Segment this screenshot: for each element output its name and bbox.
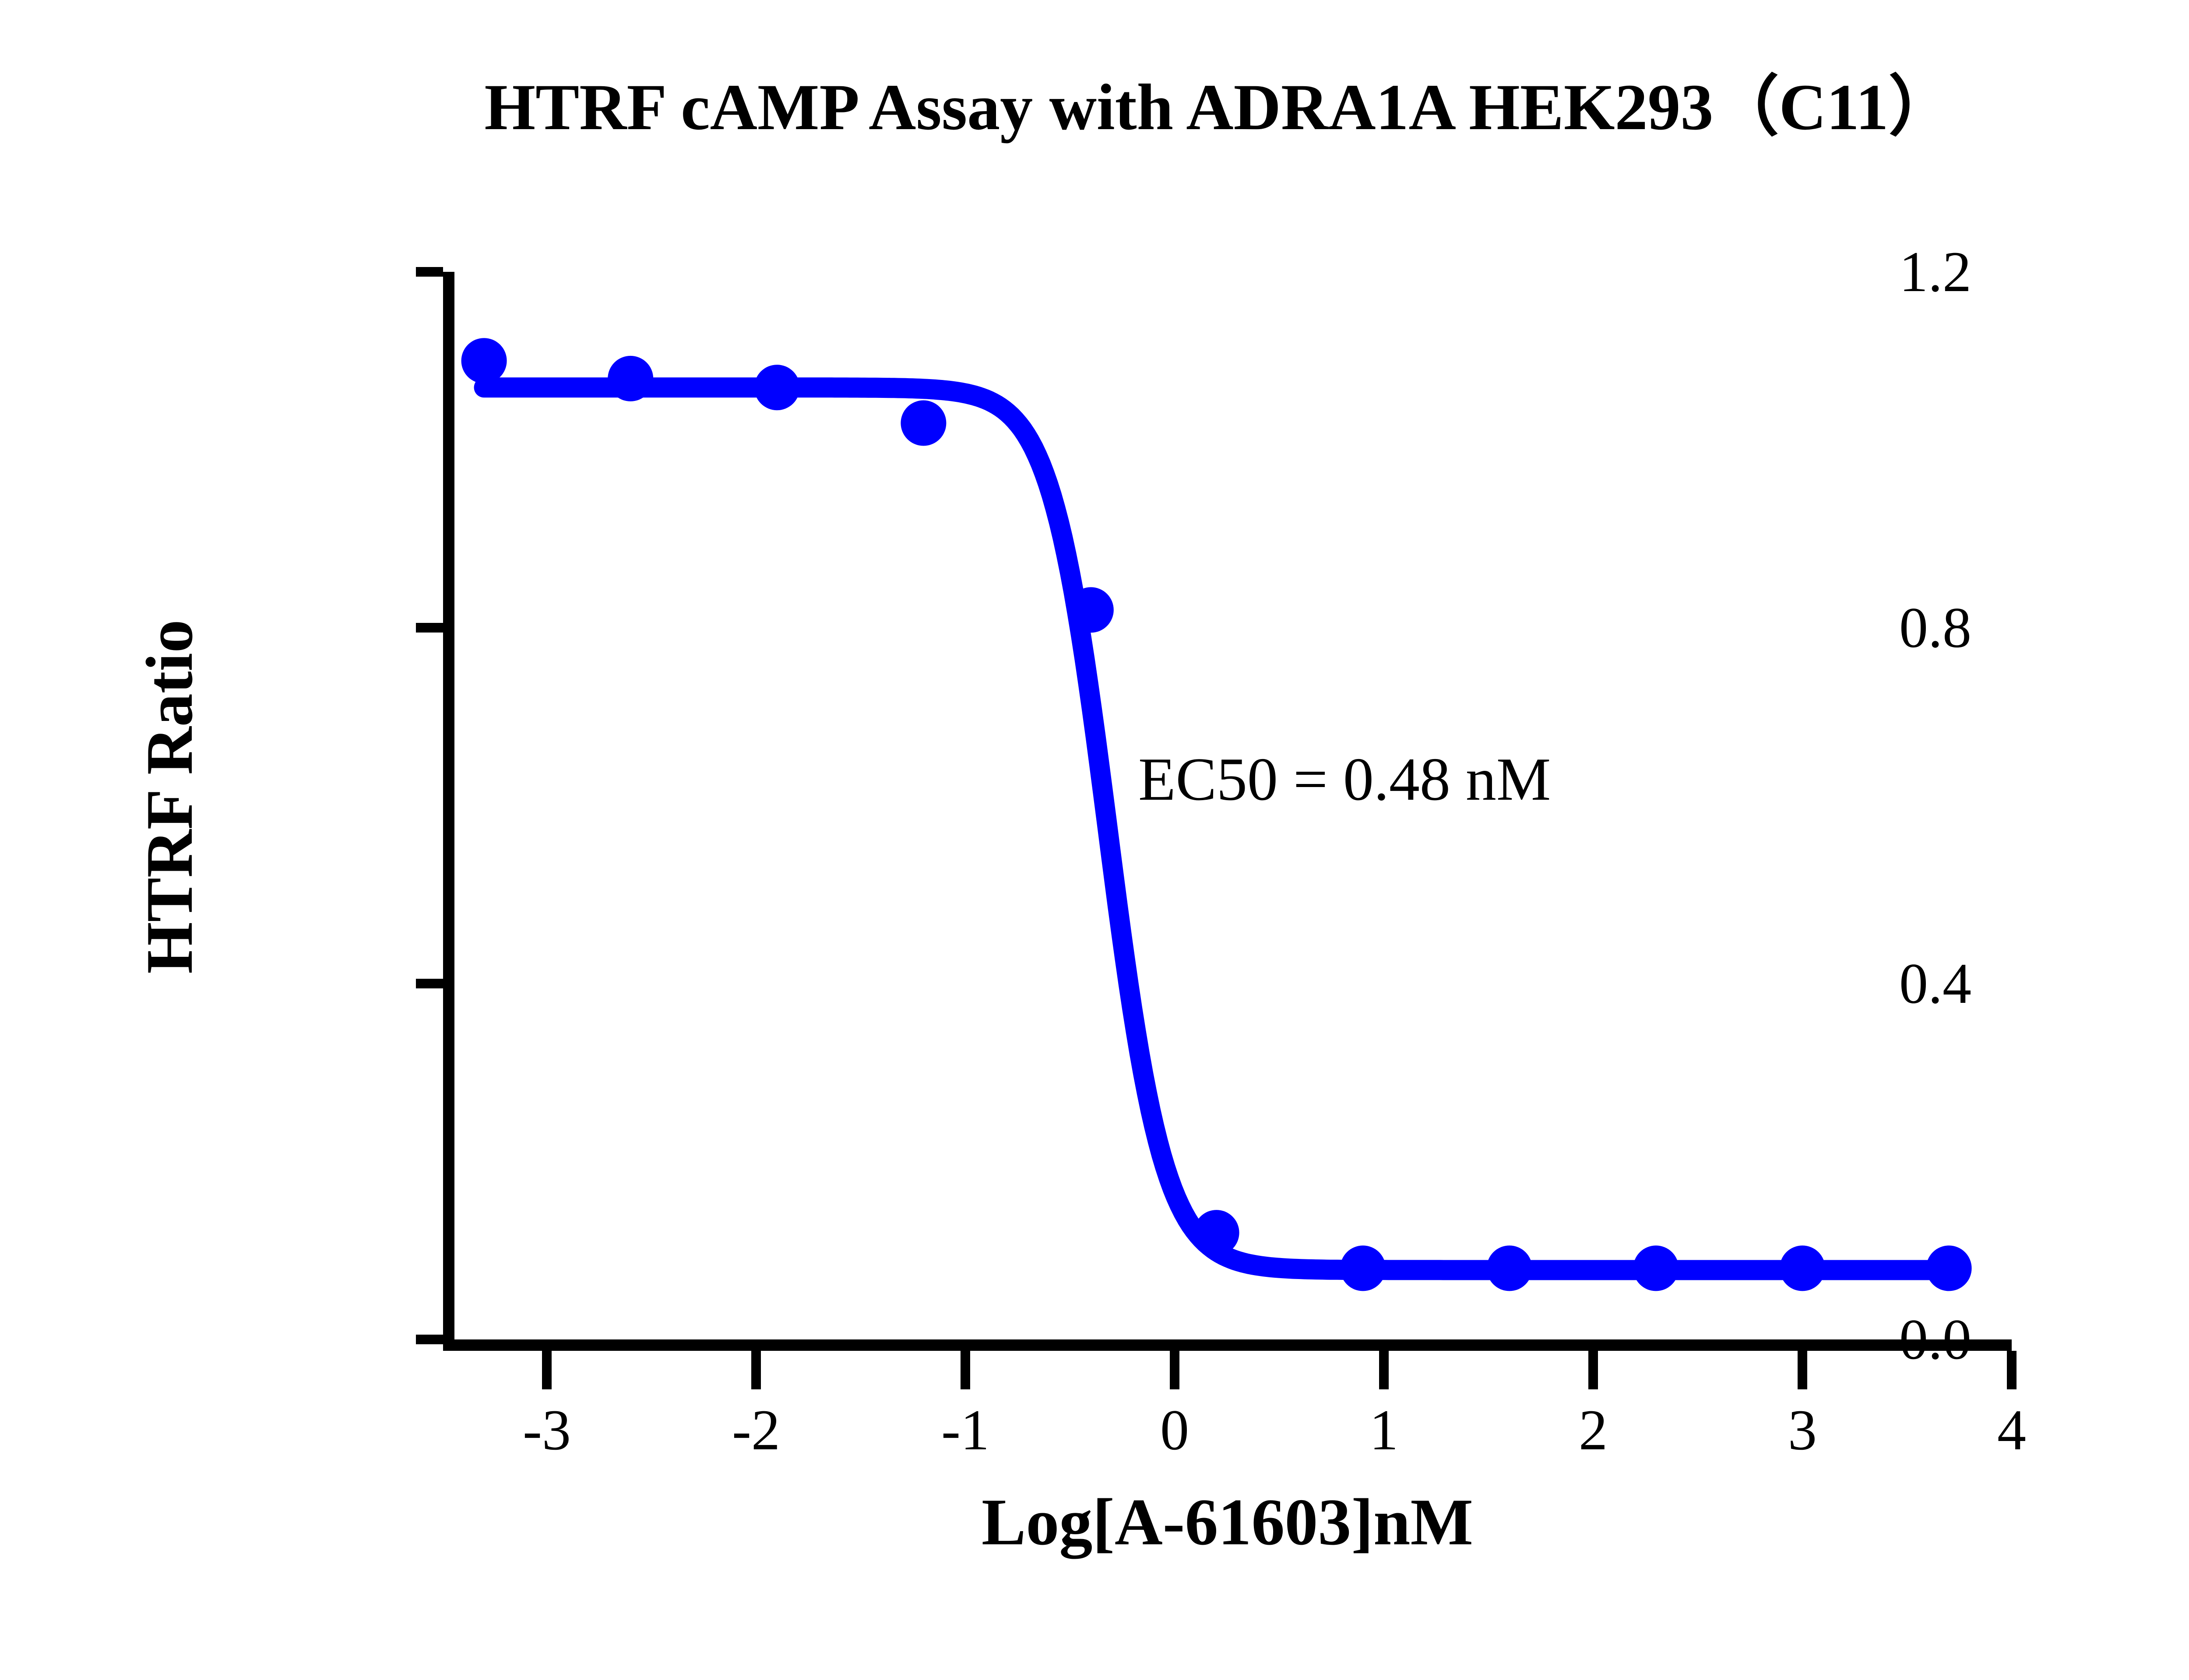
x-axis-title: Log[A-61603]nM	[443, 1484, 2012, 1560]
x-tick-label: 2	[1579, 1401, 1608, 1459]
x-tick-label: 0	[1160, 1401, 1189, 1459]
y-axis-title: HTRF Ratio	[131, 619, 208, 974]
y-tick-mark	[416, 1335, 443, 1344]
x-tick-mark	[1588, 1351, 1598, 1389]
x-tick-label: 4	[1997, 1401, 2026, 1459]
x-tick-label: -2	[732, 1401, 780, 1459]
x-tick-label: -3	[523, 1401, 571, 1459]
x-tick-mark	[1798, 1351, 1807, 1389]
y-tick-mark	[416, 623, 443, 633]
x-tick-label: -1	[941, 1401, 989, 1459]
x-tick-mark	[1379, 1351, 1389, 1389]
x-tick-mark	[542, 1351, 552, 1389]
chart-canvas: HTRF cAMP Assay with ADRA1A HEK293（C11） …	[0, 0, 2189, 1680]
y-tick-label: 1.2	[1899, 243, 1971, 301]
ec50-annotation: EC50 = 0.48 nM	[1138, 744, 1551, 815]
x-tick-label: 3	[1788, 1401, 1817, 1459]
x-tick-mark	[961, 1351, 970, 1389]
y-tick-label: 0.8	[1899, 599, 1971, 657]
y-tick-mark	[416, 267, 443, 277]
page-title: HTRF cAMP Assay with ADRA1A HEK293（C11）	[0, 74, 2189, 140]
y-tick-label: 0.0	[1899, 1311, 1971, 1368]
x-tick-mark	[2007, 1351, 2017, 1389]
x-tick-label: 1	[1369, 1401, 1398, 1459]
x-axis-line	[443, 1339, 2012, 1351]
x-tick-mark	[1170, 1351, 1179, 1389]
y-tick-label: 0.4	[1899, 955, 1971, 1012]
y-tick-mark	[416, 979, 443, 988]
x-tick-mark	[751, 1351, 761, 1389]
